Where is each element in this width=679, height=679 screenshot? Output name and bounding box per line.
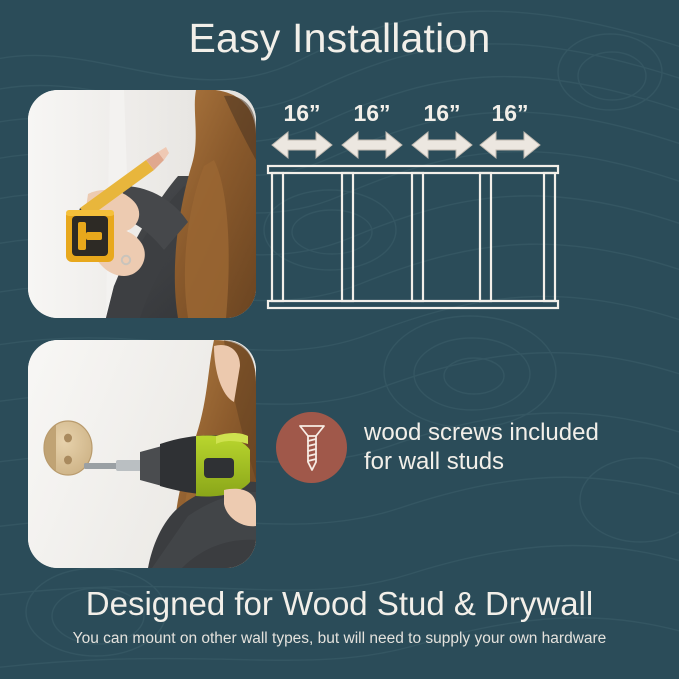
infographic-root: Easy Installation (0, 0, 679, 679)
screw-badge (276, 412, 347, 483)
dimension-label-1: 16” (353, 100, 390, 126)
callout-text: wood screws included for wall studs (364, 419, 599, 475)
photo-stud-finder (28, 90, 256, 318)
dimension-label-0: 16” (283, 100, 320, 126)
dimension-label-2: 16” (423, 100, 460, 126)
wood-screws-callout: wood screws included for wall studs (276, 412, 599, 483)
photo-drilling-disc (28, 340, 256, 568)
footer-subtitle: You can mount on other wall types, but w… (0, 630, 679, 649)
wall-stud-spacing-diagram: 16” 16” 16” 16” (266, 96, 560, 312)
footer-title: Designed for Wood Stud & Drywall (0, 586, 679, 622)
wood-screw-icon (295, 422, 329, 474)
dimension-label-3: 16” (491, 100, 528, 126)
page-title: Easy Installation (0, 16, 679, 61)
